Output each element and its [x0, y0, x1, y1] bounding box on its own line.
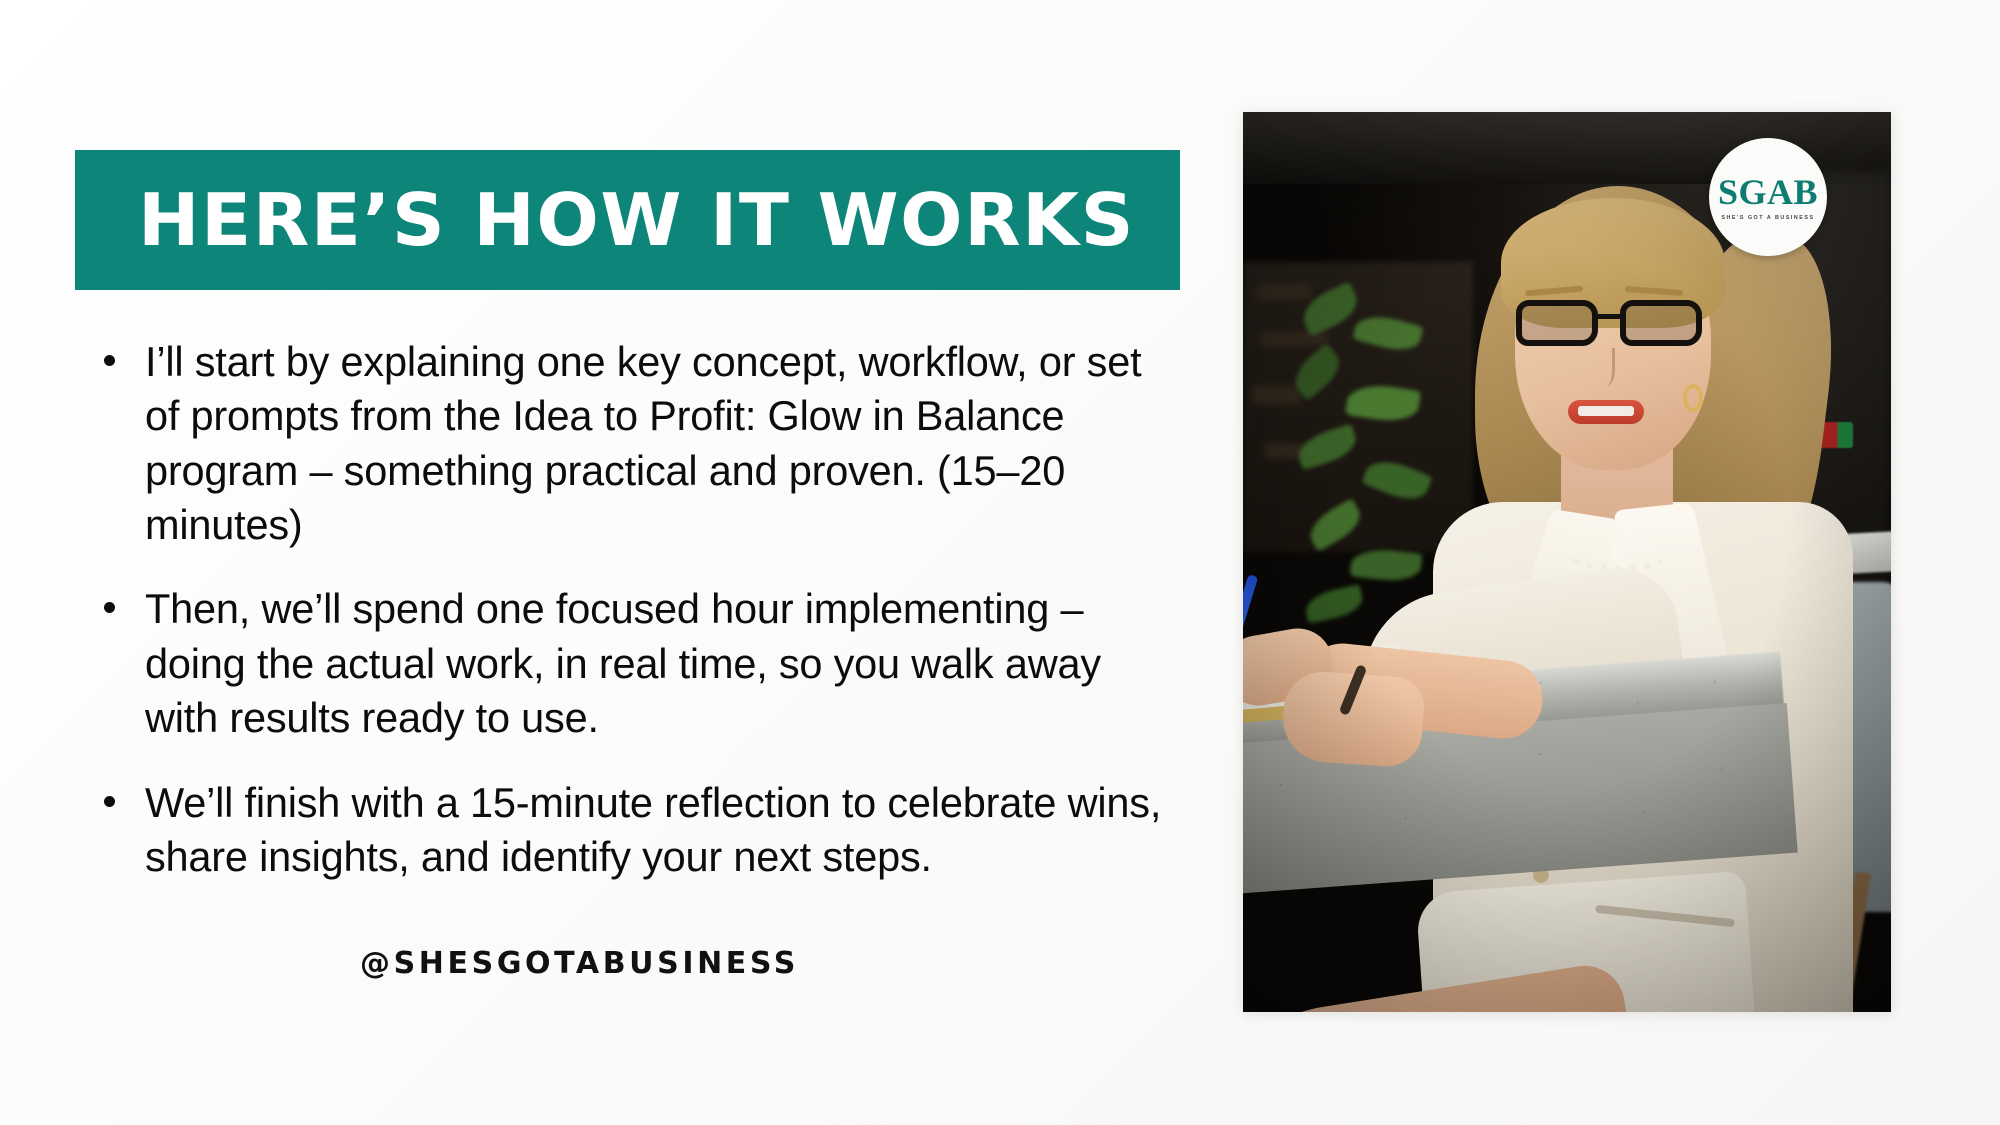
- lens: [1620, 300, 1702, 346]
- teeth: [1578, 406, 1634, 416]
- glasses-bridge: [1596, 314, 1624, 319]
- pearl-necklace: [1567, 532, 1669, 572]
- bullet-dot-icon: [104, 602, 115, 613]
- logo-tagline: SHE'S GOT A BUSINESS: [1721, 215, 1814, 221]
- bullet-dot-icon: [104, 796, 115, 807]
- title-banner: HERE’S HOW IT WORKS: [75, 150, 1180, 290]
- lens: [1516, 300, 1598, 346]
- photo-scene: SGAB SHE'S GOT A BUSINESS: [1243, 112, 1891, 1012]
- bullet-list: I’ll start by explaining one key concept…: [75, 335, 1185, 884]
- logo-wordmark: SGAB: [1718, 174, 1818, 210]
- slide-canvas: HERE’S HOW IT WORKS I’ll start by explai…: [0, 0, 2000, 1125]
- list-item: I’ll start by explaining one key concept…: [93, 335, 1185, 552]
- list-item-text: Then, we’ll spend one focused hour imple…: [145, 585, 1101, 741]
- bullet-dot-icon: [104, 355, 115, 366]
- nose: [1593, 348, 1615, 386]
- list-item: Then, we’ll spend one focused hour imple…: [93, 582, 1185, 745]
- list-item-text: We’ll finish with a 15-minute reflection…: [145, 779, 1161, 880]
- brand-logo-badge: SGAB SHE'S GOT A BUSINESS: [1709, 138, 1827, 256]
- list-item-text: I’ll start by explaining one key concept…: [145, 338, 1141, 548]
- list-item: We’ll finish with a 15-minute reflection…: [93, 776, 1185, 885]
- page-title: HERE’S HOW IT WORKS: [138, 184, 1135, 256]
- content-column: HERE’S HOW IT WORKS I’ll start by explai…: [75, 150, 1185, 981]
- portrait-photo: SGAB SHE'S GOT A BUSINESS: [1243, 112, 1891, 1012]
- eyeglasses-icon: [1516, 300, 1708, 348]
- social-handle: @SHESGOTABUSINESS: [360, 946, 1185, 981]
- earring: [1683, 384, 1703, 412]
